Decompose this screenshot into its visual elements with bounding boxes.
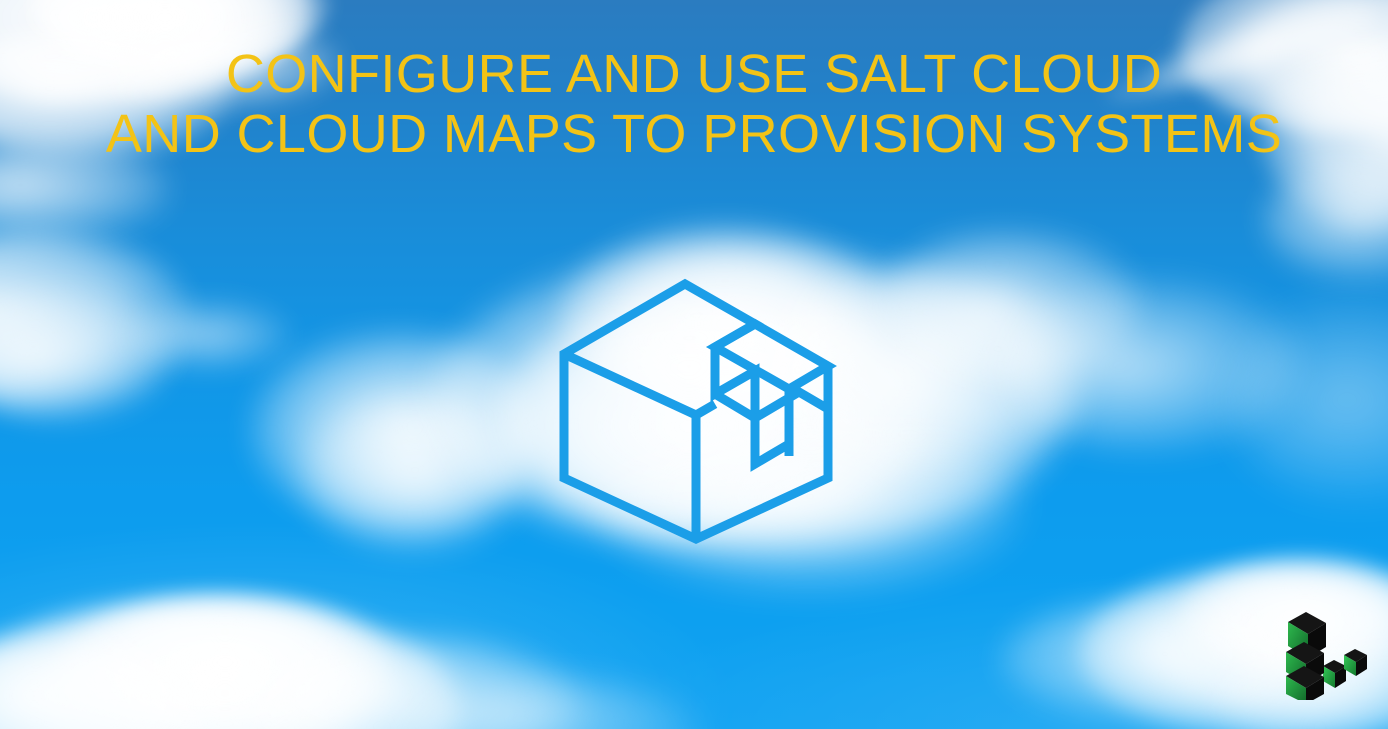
linux-academy-cube-logo xyxy=(1282,608,1374,700)
title-line-2: AND CLOUD MAPS TO PROVISION SYSTEMS xyxy=(0,104,1388,164)
cube-lower-middle xyxy=(1323,660,1346,688)
cube-right xyxy=(1344,649,1367,676)
slide-canvas: CONFIGURE AND USE SALT CLOUD AND CLOUD M… xyxy=(0,0,1388,729)
slide-title: CONFIGURE AND USE SALT CLOUD AND CLOUD M… xyxy=(0,44,1388,164)
salt-cube-logo xyxy=(555,268,837,550)
title-line-1: CONFIGURE AND USE SALT CLOUD xyxy=(0,44,1388,104)
